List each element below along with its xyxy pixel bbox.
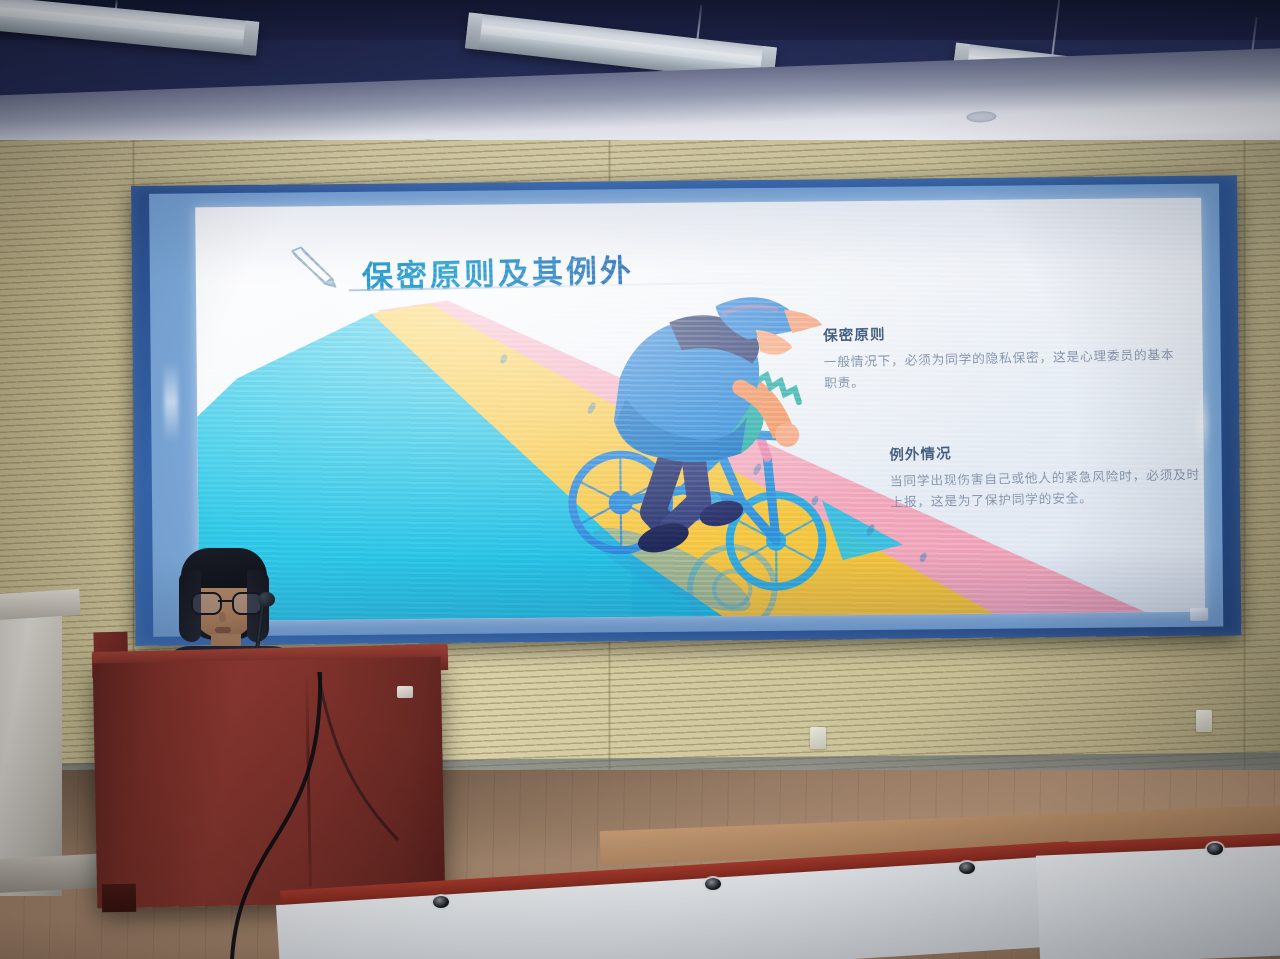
cyclist-illustration [195, 198, 1205, 621]
glasses-bridge [218, 600, 232, 602]
screen-glare [163, 362, 178, 442]
glasses-lens-left [191, 592, 222, 615]
wall-outlet-icon [810, 727, 826, 749]
screen-panel: 保密原则及其例外 保密原则 一般情况下，必须为同学的隐私保密，这是心理委员的基本… [149, 184, 1224, 637]
slide-text-block-1: 保密原则 一般情况下，必须为同学的隐私保密，这是心理委员的基本职责。 [823, 317, 1187, 394]
podium-plate-icon [397, 686, 413, 698]
pendant-endcap-left [465, 12, 483, 49]
cable-grommet-icon [705, 878, 721, 890]
podium [93, 657, 446, 909]
wall-outlet-icon [1196, 710, 1212, 732]
foreground-desk [1036, 844, 1280, 959]
block-body: 一般情况下，必须为同学的隐私保密，这是心理委员的基本职责。 [823, 345, 1186, 394]
cable-grommet-icon [1207, 843, 1223, 855]
microphone-icon [258, 592, 275, 607]
slide-text-block-2: 例外情况 当同学出现伤害自己或他人的紧急风险时，必须及时上报，这是为了保护同学的… [889, 437, 1205, 513]
cable-grommet-icon [959, 862, 975, 874]
rider-hand [775, 423, 799, 447]
wall-seam [1243, 140, 1246, 840]
scene-root: 保密原则及其例外 保密原则 一般情况下，必须为同学的隐私保密，这是心理委员的基本… [0, 0, 1280, 959]
glasses-icon [191, 592, 259, 611]
presenter-nose [219, 612, 226, 622]
screen-corner-plate [1190, 607, 1208, 620]
cable-grommet-icon [433, 896, 449, 908]
led-display-wall[interactable]: 保密原则及其例外 保密原则 一般情况下，必须为同学的隐私保密，这是心理委员的基本… [131, 175, 1241, 646]
soffit-vent-icon [966, 111, 996, 123]
podium-foot [102, 884, 136, 913]
left-column [0, 596, 62, 896]
presenter-mouth [215, 627, 231, 633]
pencil-icon [286, 244, 341, 289]
screen-glare [1196, 387, 1209, 457]
block-body: 当同学出现伤害自己或他人的紧急风险时，必须及时上报，这是为了保护同学的安全。 [890, 465, 1205, 513]
presentation-slide: 保密原则及其例外 保密原则 一般情况下，必须为同学的隐私保密，这是心理委员的基本… [195, 198, 1205, 621]
